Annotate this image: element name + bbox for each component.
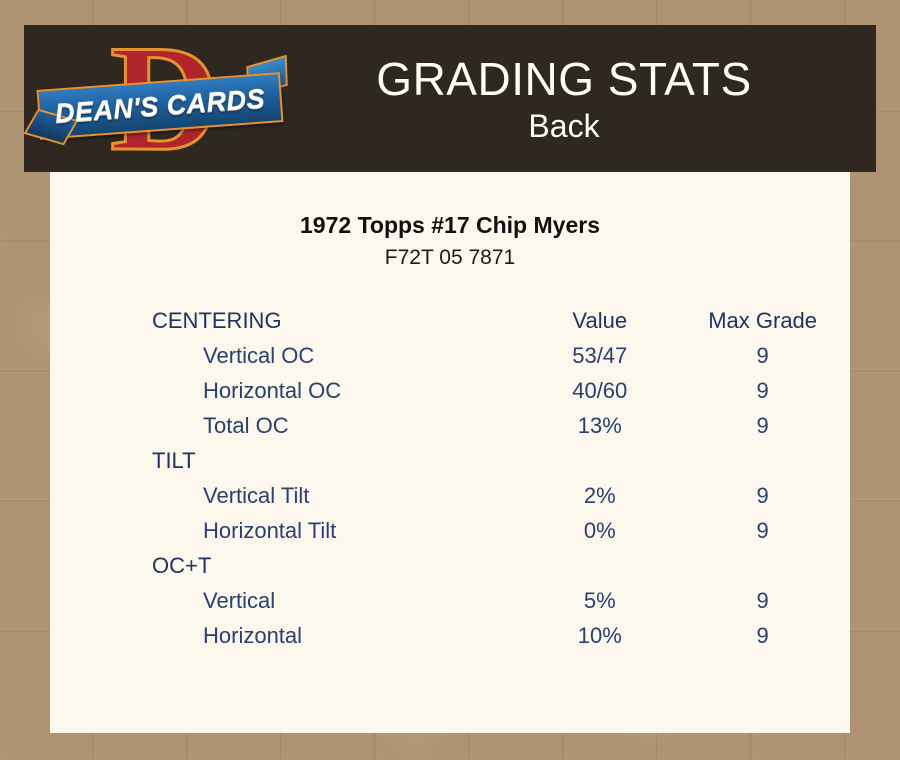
- stat-max-grade: 9: [675, 408, 850, 443]
- section-label: OC+T: [50, 548, 524, 583]
- stat-max-grade: 9: [675, 513, 850, 548]
- stat-value: 0%: [524, 513, 675, 548]
- section-label: TILT: [50, 443, 524, 478]
- stat-value: 2%: [524, 478, 675, 513]
- stat-row: Vertical Tilt2%9: [50, 478, 850, 513]
- stat-max-grade: 9: [675, 478, 850, 513]
- section-spacer-value: [524, 443, 675, 478]
- stat-row: Horizontal10%9: [50, 618, 850, 653]
- section-spacer-grade: [675, 548, 850, 583]
- stat-row: Horizontal OC40/609: [50, 373, 850, 408]
- stat-max-grade: 9: [675, 583, 850, 618]
- header-title-block: GRADING STATS Back: [292, 52, 876, 146]
- stat-value: 10%: [524, 618, 675, 653]
- content-panel: 1972 Topps #17 Chip Myers F72T 05 7871 C…: [50, 172, 850, 733]
- stat-max-grade: 9: [675, 338, 850, 373]
- stat-label: Vertical: [50, 583, 524, 618]
- page-subtitle: Back: [292, 106, 836, 146]
- card-serial-number: F72T 05 7871: [50, 245, 850, 271]
- header-bar: D DEAN'S CARDS GRADING STATS Back: [24, 25, 876, 172]
- stat-max-grade: 9: [675, 373, 850, 408]
- stat-row: Vertical OC53/479: [50, 338, 850, 373]
- stat-value: 5%: [524, 583, 675, 618]
- grading-stats-page: D DEAN'S CARDS GRADING STATS Back 1972 T…: [0, 0, 900, 760]
- card-title: 1972 Topps #17 Chip Myers: [50, 211, 850, 239]
- stat-label: Horizontal OC: [50, 373, 524, 408]
- column-header-value: Value: [524, 303, 675, 338]
- section-spacer-value: [524, 548, 675, 583]
- stat-label: Horizontal Tilt: [50, 513, 524, 548]
- deans-cards-logo[interactable]: D DEAN'S CARDS: [24, 25, 292, 172]
- stat-label: Vertical OC: [50, 338, 524, 373]
- section-header-row: CENTERINGValueMax Grade: [50, 303, 850, 338]
- stat-label: Total OC: [50, 408, 524, 443]
- section-spacer-grade: [675, 443, 850, 478]
- page-title: GRADING STATS: [292, 52, 836, 106]
- stat-value: 40/60: [524, 373, 675, 408]
- column-header-max-grade: Max Grade: [675, 303, 850, 338]
- grading-stats-table: CENTERINGValueMax GradeVertical OC53/479…: [50, 303, 850, 653]
- stat-row: Horizontal Tilt0%9: [50, 513, 850, 548]
- section-label: CENTERING: [50, 303, 524, 338]
- stat-label: Vertical Tilt: [50, 478, 524, 513]
- section-header-row: TILT: [50, 443, 850, 478]
- stat-row: Vertical5%9: [50, 583, 850, 618]
- stat-label: Horizontal: [50, 618, 524, 653]
- stat-row: Total OC13%9: [50, 408, 850, 443]
- stat-value: 13%: [524, 408, 675, 443]
- section-header-row: OC+T: [50, 548, 850, 583]
- stat-max-grade: 9: [675, 618, 850, 653]
- stat-value: 53/47: [524, 338, 675, 373]
